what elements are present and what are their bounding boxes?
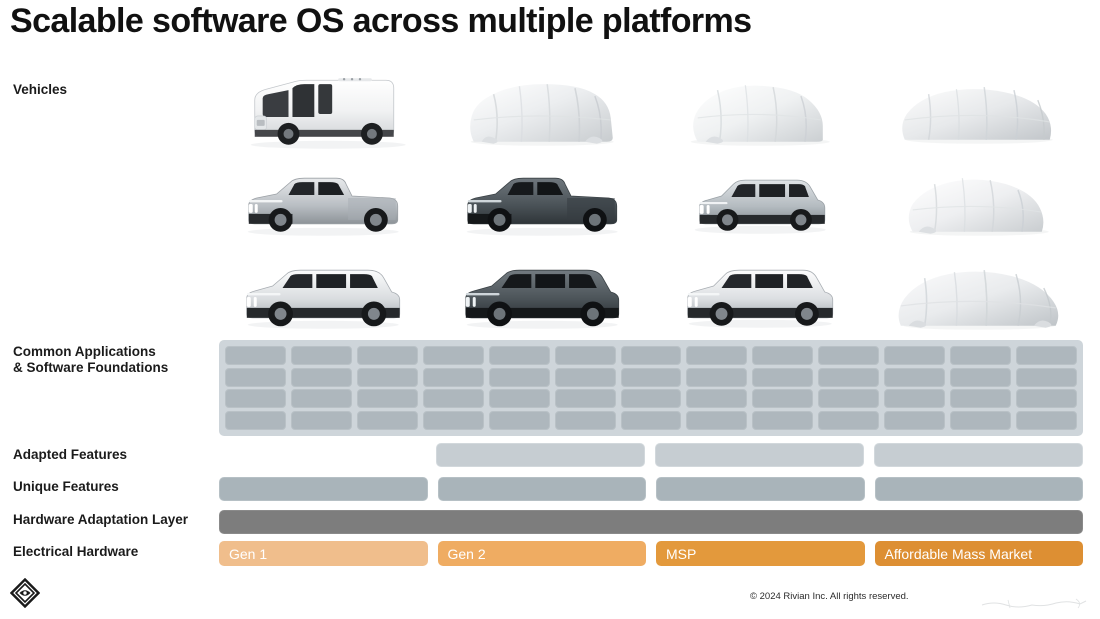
common-application-cell [555, 411, 616, 430]
common-application-cell [950, 389, 1011, 408]
unique-feature-bar-3[interactable] [656, 477, 865, 501]
common-applications-row [225, 411, 1077, 430]
common-application-cell [752, 346, 813, 365]
unique-feature-bar-2[interactable] [438, 477, 647, 501]
common-application-cell [357, 389, 418, 408]
common-application-cell [621, 346, 682, 365]
common-application-cell [818, 389, 879, 408]
row-label-hardware-adaptation-layer: Hardware Adaptation Layer [13, 512, 188, 528]
adapted-feature-bar-2[interactable] [436, 443, 645, 467]
electrical-hardware-bar-3[interactable]: MSP [656, 541, 865, 566]
common-application-cell [225, 389, 286, 408]
electrical-hardware-label: Affordable Mass Market [885, 546, 1033, 562]
footer-scribble-mark [980, 596, 1090, 612]
common-application-cell [423, 411, 484, 430]
common-application-cell [686, 411, 747, 430]
vehicle-r3-suv-white [656, 252, 865, 336]
hardware-adaptation-layer-bar [219, 510, 1083, 534]
common-application-cell [621, 411, 682, 430]
common-application-cell [423, 368, 484, 387]
common-application-cell [291, 368, 352, 387]
common-application-cell [291, 389, 352, 408]
vehicle-covered-vehicle [875, 68, 1084, 152]
common-application-cell [555, 389, 616, 408]
common-application-cell [818, 368, 879, 387]
common-application-cell [357, 346, 418, 365]
common-application-cell [423, 389, 484, 408]
electrical-hardware-row: Gen 1Gen 2MSPAffordable Mass Market [219, 541, 1083, 566]
common-application-cell [752, 411, 813, 430]
common-application-cell [686, 389, 747, 408]
common-application-cell [686, 346, 747, 365]
unique-feature-bar-1[interactable] [219, 477, 428, 501]
common-application-cell [555, 368, 616, 387]
copyright-text: © 2024 Rivian Inc. All rights reserved. [750, 591, 909, 602]
vehicle-r1t-pickup-dark [438, 160, 647, 244]
common-application-cell [752, 368, 813, 387]
common-application-cell [225, 411, 286, 430]
vehicle-column-gen-1 [219, 68, 428, 336]
vehicle-r1t-pickup-silver [219, 160, 428, 244]
row-label-electrical-hardware: Electrical Hardware [13, 544, 138, 560]
common-application-cell [884, 346, 945, 365]
row-label-common-applications: Common Applications & Software Foundatio… [13, 344, 168, 375]
adapted-features-row [219, 443, 1083, 467]
electrical-hardware-bar-1[interactable]: Gen 1 [219, 541, 428, 566]
unique-feature-bar-4[interactable] [875, 477, 1084, 501]
common-application-cell [489, 389, 550, 408]
common-application-cell [950, 368, 1011, 387]
unique-features-row [219, 477, 1083, 501]
row-label-adapted-features: Adapted Features [13, 447, 127, 463]
common-application-cell [818, 346, 879, 365]
common-application-cell [291, 411, 352, 430]
common-application-cell [555, 346, 616, 365]
common-application-cell [621, 389, 682, 408]
common-application-cell [423, 346, 484, 365]
vehicle-covered-vehicle [875, 160, 1084, 244]
common-application-cell [884, 389, 945, 408]
electrical-hardware-bar-4[interactable]: Affordable Mass Market [875, 541, 1084, 566]
common-application-cell [621, 368, 682, 387]
common-application-cell [489, 411, 550, 430]
electrical-hardware-label: Gen 1 [229, 546, 267, 562]
vehicle-delivery-van [219, 68, 428, 152]
common-application-cell [1016, 346, 1077, 365]
vehicle-column-msp [656, 68, 865, 336]
common-application-cell [489, 346, 550, 365]
electrical-hardware-label: Gen 2 [448, 546, 486, 562]
common-application-cell [489, 368, 550, 387]
vehicles-grid [219, 68, 1083, 336]
common-application-cell [884, 411, 945, 430]
row-label-unique-features: Unique Features [13, 479, 119, 495]
rivian-logo [10, 578, 40, 608]
vehicle-covered-vehicle [875, 252, 1084, 336]
vehicle-r2-suv-silver [656, 160, 865, 244]
common-applications-row [225, 346, 1077, 365]
adapted-feature-bar-3[interactable] [655, 443, 864, 467]
common-applications-row [225, 389, 1077, 408]
common-application-cell [357, 411, 418, 430]
common-application-cell [1016, 368, 1077, 387]
common-application-cell [686, 368, 747, 387]
vehicle-r1s-suv-dark [438, 252, 647, 336]
common-application-cell [950, 346, 1011, 365]
common-applications-grid [219, 340, 1083, 436]
adapted-feature-bar-1 [219, 443, 426, 467]
common-application-cell [1016, 411, 1077, 430]
common-application-cell [1016, 389, 1077, 408]
common-application-cell [225, 368, 286, 387]
common-application-cell [225, 346, 286, 365]
common-application-cell [950, 411, 1011, 430]
page-title: Scalable software OS across multiple pla… [10, 2, 751, 41]
common-application-cell [884, 368, 945, 387]
common-application-cell [752, 389, 813, 408]
common-application-cell [357, 368, 418, 387]
row-label-vehicles: Vehicles [13, 82, 67, 98]
vehicle-r1s-suv-white [219, 252, 428, 336]
vehicle-column-gen-2 [438, 68, 647, 336]
common-application-cell [291, 346, 352, 365]
vehicle-column-affordable-mass-market [875, 68, 1084, 336]
adapted-feature-bar-4[interactable] [874, 443, 1083, 467]
vehicle-covered-vehicle [438, 68, 647, 152]
electrical-hardware-bar-2[interactable]: Gen 2 [438, 541, 647, 566]
electrical-hardware-label: MSP [666, 546, 696, 562]
common-applications-row [225, 368, 1077, 387]
vehicle-covered-vehicle [656, 68, 865, 152]
common-application-cell [818, 411, 879, 430]
